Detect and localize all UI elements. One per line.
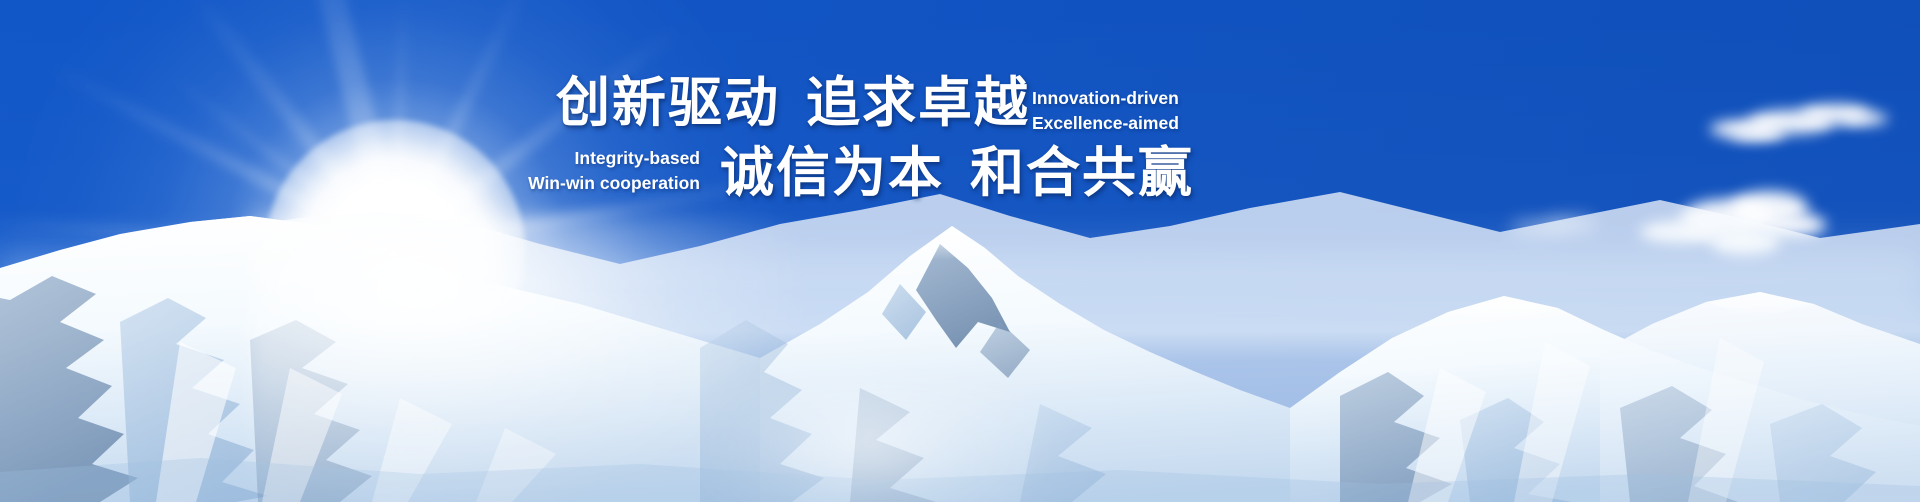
snow-mountain-range [0, 172, 1920, 502]
hero-banner: 创新驱动追求卓越 Innovation-driven Excellence-ai… [0, 0, 1920, 502]
